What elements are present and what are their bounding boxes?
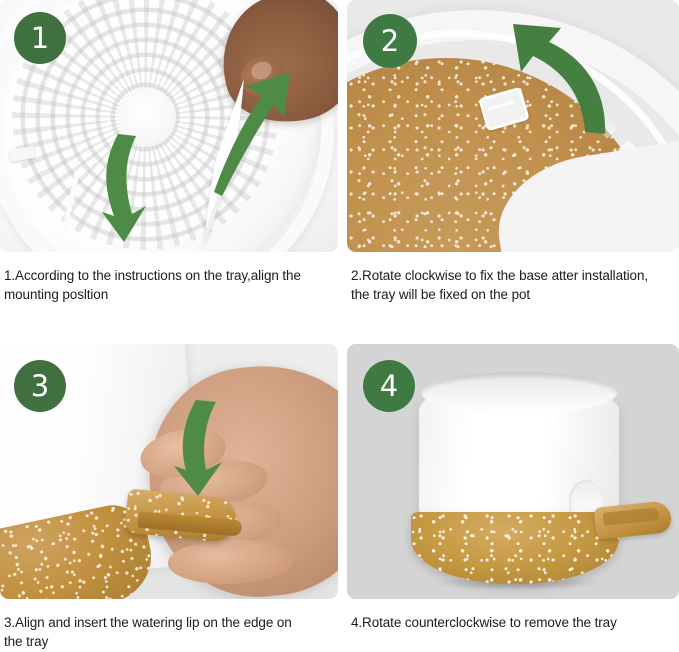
arrow-down-curved-icon: [88, 130, 168, 245]
step-card-2: 2 2.Rotate clockwise to fix the base att…: [347, 0, 679, 332]
step-card-1: 1 1.According to the instructions on the…: [0, 0, 338, 332]
step-badge-1: 1: [14, 12, 66, 64]
step-badge-2: 2: [363, 14, 417, 68]
step-card-3: 3 3.Align and insert the watering lip on…: [0, 344, 338, 652]
step-badge-4: 4: [363, 360, 415, 412]
step-number-4: 4: [380, 372, 398, 401]
step-caption-1: 1.According to the instructions on the t…: [4, 266, 324, 304]
step-number-2: 2: [381, 27, 399, 56]
speckle-texture: [411, 512, 619, 584]
step-caption-2: 2.Rotate clockwise to fix the base atter…: [351, 266, 671, 304]
rotate-clockwise-photo: 2: [347, 0, 679, 252]
step-number-1: 1: [31, 24, 49, 53]
steps-grid: 1 1.According to the instructions on the…: [0, 0, 679, 652]
step-badge-3: 3: [14, 360, 66, 412]
tray-alignment-photo: 1: [0, 0, 338, 252]
insert-watering-lip-photo: 3: [0, 344, 338, 599]
water-basin-tan: [411, 512, 619, 584]
pot-interior: [430, 378, 608, 408]
step-number-3: 3: [31, 372, 49, 401]
arrow-down-curved-icon: [172, 398, 236, 498]
finished-pot-photo: 4: [347, 344, 679, 599]
arrow-up-left-curved-icon: [487, 22, 617, 142]
step-caption-4: 4.Rotate counterclockwise to remove the …: [351, 613, 671, 632]
step-caption-3: 3.Align and insert the watering lip on t…: [4, 613, 324, 651]
instruction-sheet: 1 1.According to the instructions on the…: [0, 0, 679, 652]
step-card-4: 4 4.Rotate counterclockwise to remove th…: [347, 344, 679, 652]
arrow-up-right-curved-icon: [212, 60, 304, 200]
